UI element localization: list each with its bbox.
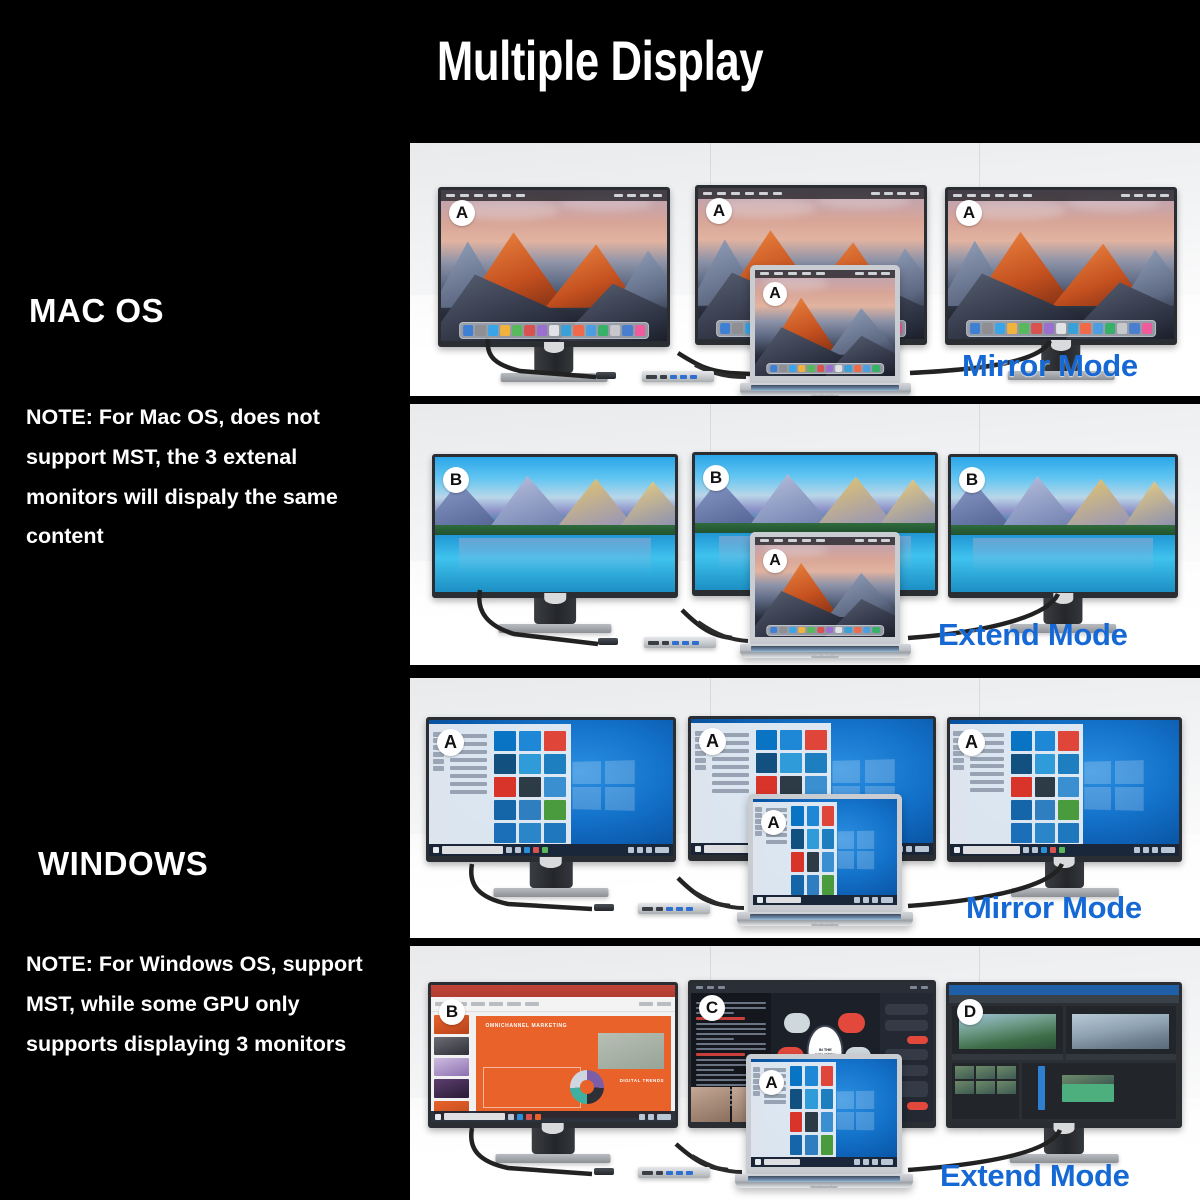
laptop-model-label: MacBook Pro [813, 923, 837, 927]
usb-c-hub [642, 371, 714, 382]
windows-os-note: NOTE: For Windows OS, support MST, while… [26, 945, 386, 1064]
display-badge: A [449, 200, 475, 226]
display-badge: A [706, 198, 732, 224]
display-badge: A [763, 549, 787, 573]
display-badge: B [439, 999, 465, 1025]
mode-label-mirror: Mirror Mode [966, 890, 1142, 926]
usb-c-hub [638, 1167, 710, 1178]
display-badge: C [699, 995, 725, 1021]
display-badge: A [956, 200, 982, 226]
mac-os-heading: MAC OS [29, 292, 164, 330]
windows-os-heading: WINDOWS [38, 845, 208, 883]
display-badge: B [959, 467, 985, 493]
laptop-model-label: MacBook Pro [813, 394, 837, 396]
cable-plug [598, 638, 618, 645]
display-badge: A [759, 1070, 784, 1095]
mode-label-extend: Extend Mode [938, 617, 1128, 653]
left-text-column: MAC OS NOTE: For Mac OS, does not suppor… [0, 0, 410, 1200]
display-badge: B [703, 465, 729, 491]
laptop-model-label: MacBook Pro [813, 655, 837, 659]
display-badge: A [699, 728, 726, 755]
multiple-display-infographic: Multiple Display MAC OS NOTE: For Mac OS… [0, 0, 1200, 1200]
panel-mac-extend-mode: B B [410, 404, 1200, 665]
display-badge: A [761, 810, 786, 835]
laptop-macbook: A MacBook Pro [746, 1054, 902, 1188]
panel-windows-mirror-mode: A [410, 678, 1200, 938]
mode-label-mirror: Mirror Mode [962, 348, 1138, 384]
cable-plug [596, 372, 616, 379]
usb-c-hub [638, 903, 710, 914]
mode-label-extend: Extend Mode [940, 1158, 1130, 1194]
panel-mac-mirror-mode: A [410, 143, 1200, 396]
display-badge: D [957, 999, 983, 1025]
usb-c-hub [644, 637, 716, 648]
mac-os-note: NOTE: For Mac OS, does not support MST, … [26, 398, 386, 557]
laptop-model-label: MacBook Pro [812, 1185, 836, 1189]
display-badge: A [763, 282, 787, 306]
display-badge: B [443, 467, 469, 493]
laptop-macbook: A MacBook Pro [750, 532, 900, 658]
display-badge: A [958, 729, 985, 756]
laptop-macbook: A MacBook Pro [748, 794, 902, 926]
cable-plug [594, 1168, 614, 1175]
panel-windows-extend-mode: OMNICHANNEL MARKETING DIGITAL TRENDS B [410, 946, 1200, 1200]
laptop-macbook: A MacBook Pro [750, 265, 900, 396]
display-badge: A [437, 729, 464, 756]
cable-plug [594, 904, 614, 911]
